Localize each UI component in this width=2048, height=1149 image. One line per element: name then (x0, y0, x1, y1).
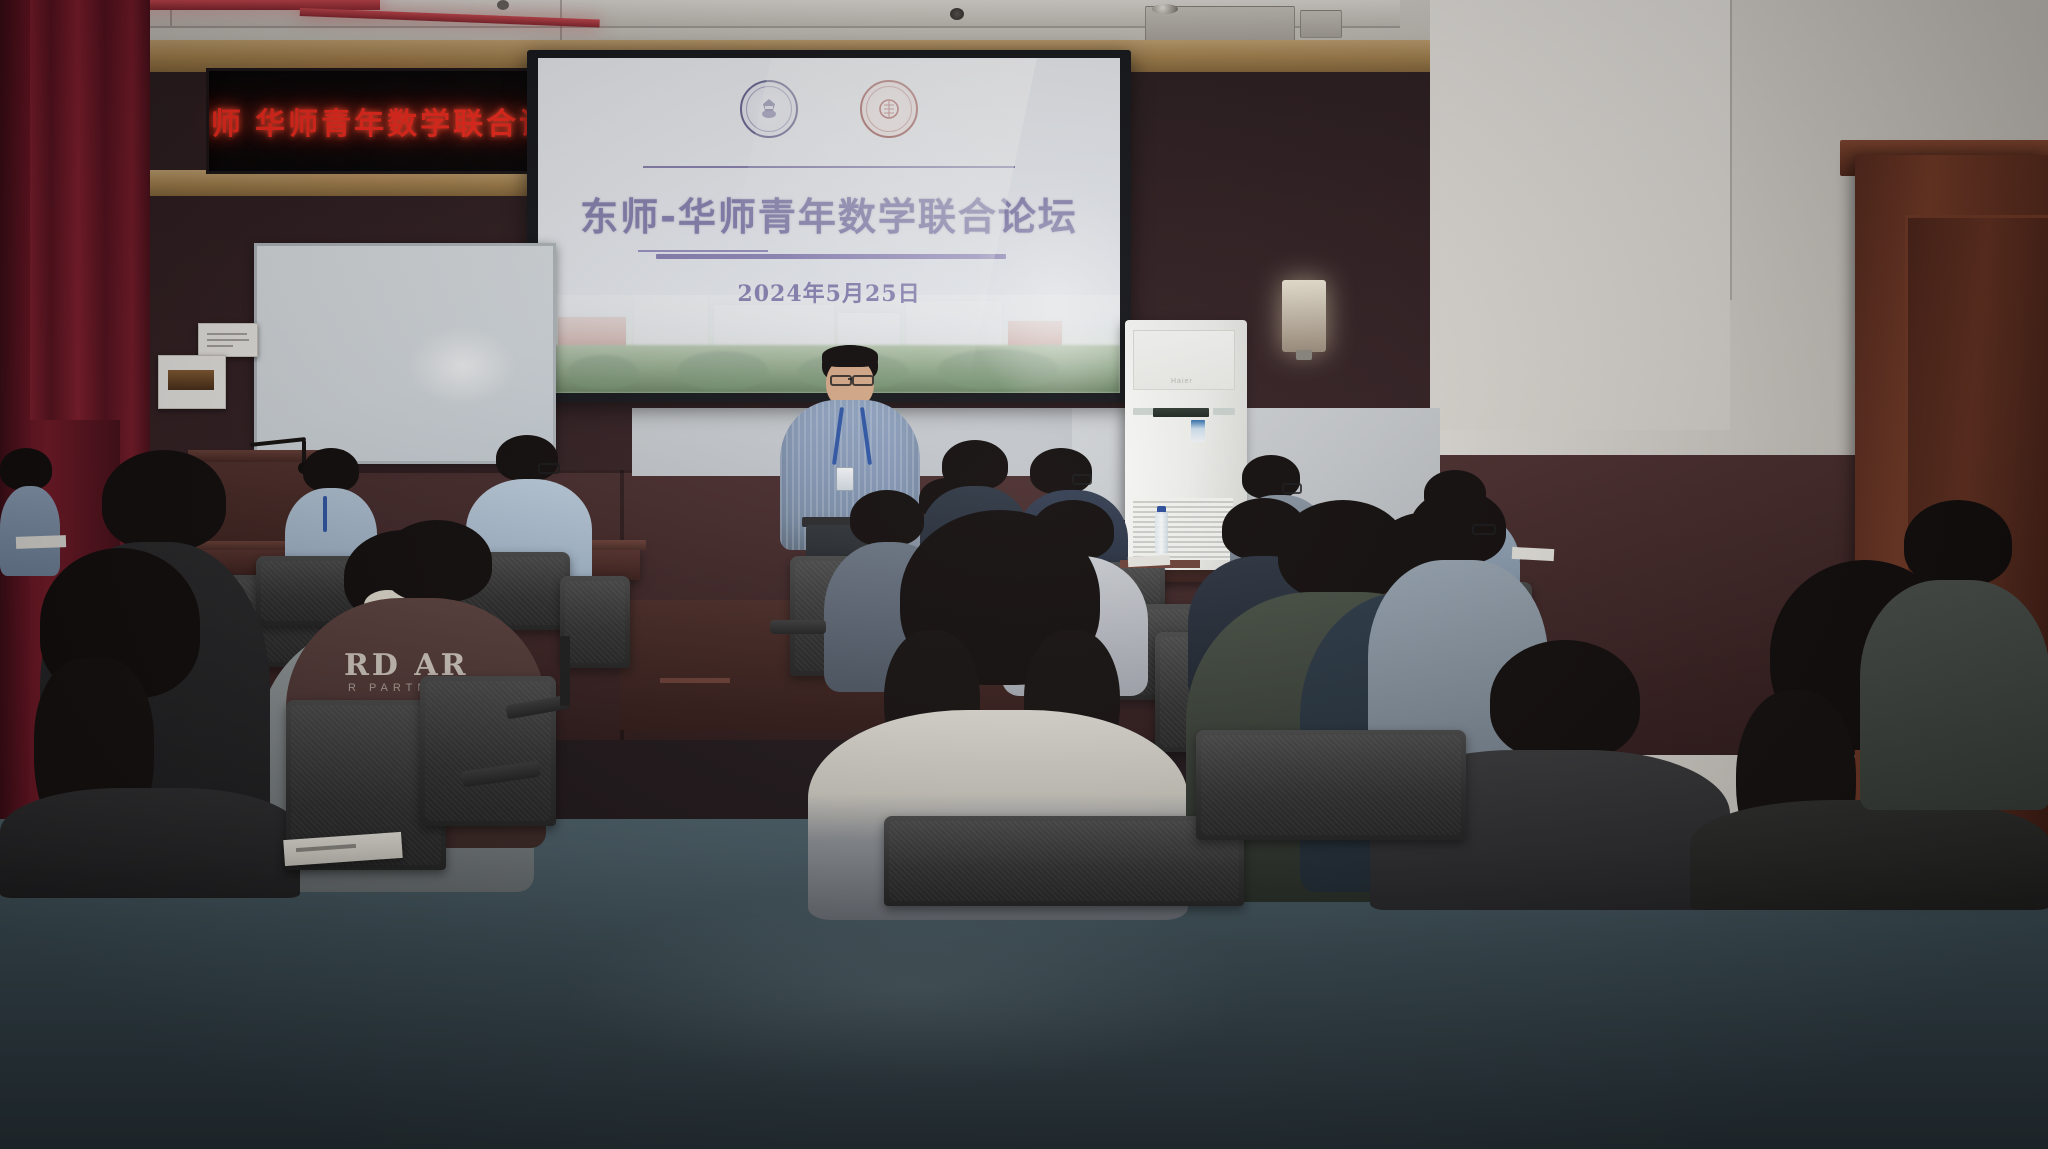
ac-button-left[interactable] (1133, 408, 1155, 415)
whiteboard-glare (407, 326, 517, 406)
audience-member (0, 548, 300, 888)
glasses-bridge (848, 378, 852, 380)
name-badge (836, 467, 854, 491)
slide-rule-top (643, 166, 1015, 168)
chair[interactable] (420, 676, 556, 826)
glasses-left-lens (830, 375, 852, 386)
ceiling-spotlight (1152, 4, 1178, 14)
chair-armrest[interactable] (770, 620, 826, 634)
chair-post (560, 636, 570, 706)
whiteboard (254, 243, 556, 464)
chair[interactable] (1196, 730, 1466, 840)
wall-corner-seam (1730, 0, 1732, 300)
ceiling-sensor (497, 0, 509, 10)
slide-rule-bottom (656, 254, 1006, 259)
speaker-hair-top (822, 345, 878, 367)
slide-title: 东师-华师青年数学联合论坛 (538, 186, 1120, 241)
glasses-right-lens (852, 375, 874, 386)
ceiling-vent (1300, 10, 1342, 38)
slide-rule-thin (638, 250, 768, 252)
slide-date: 2024年5月25日 (538, 276, 1120, 308)
chair[interactable] (884, 816, 1244, 906)
nenu-emblem (740, 80, 798, 138)
ac-display (1153, 408, 1209, 417)
photo-scene: 东师 华师青年数学联合论坛 (0, 0, 2048, 1149)
notice-image (168, 370, 214, 390)
stage-trim (660, 678, 730, 683)
led-banner: 东师 华师青年数学联合论坛 (206, 68, 557, 174)
audience-member (1860, 500, 2048, 800)
ac-brand-logo: Haier (1171, 378, 1193, 385)
led-banner-text: 东师 华师青年数学联合论坛 (206, 99, 557, 143)
ac-button-right[interactable] (1213, 408, 1235, 415)
nenu-emblem-glyph (756, 96, 782, 122)
right-wall-upper (1430, 0, 1730, 430)
screen-surface: 东师-华师青年数学联合论坛 2024年5月25日 (538, 58, 1120, 393)
slide-emblem-row (538, 80, 1120, 138)
sconce-base (1296, 350, 1312, 360)
chair[interactable] (560, 576, 630, 668)
notice-sheet-upper (198, 323, 258, 357)
ecnu-emblem-glyph (876, 96, 902, 122)
ceiling-sensor (950, 8, 964, 20)
ac-energy-label (1191, 420, 1205, 442)
ecnu-emblem (860, 80, 918, 138)
notice-sheet-lower (158, 355, 226, 409)
wall-sconce (1282, 280, 1326, 352)
